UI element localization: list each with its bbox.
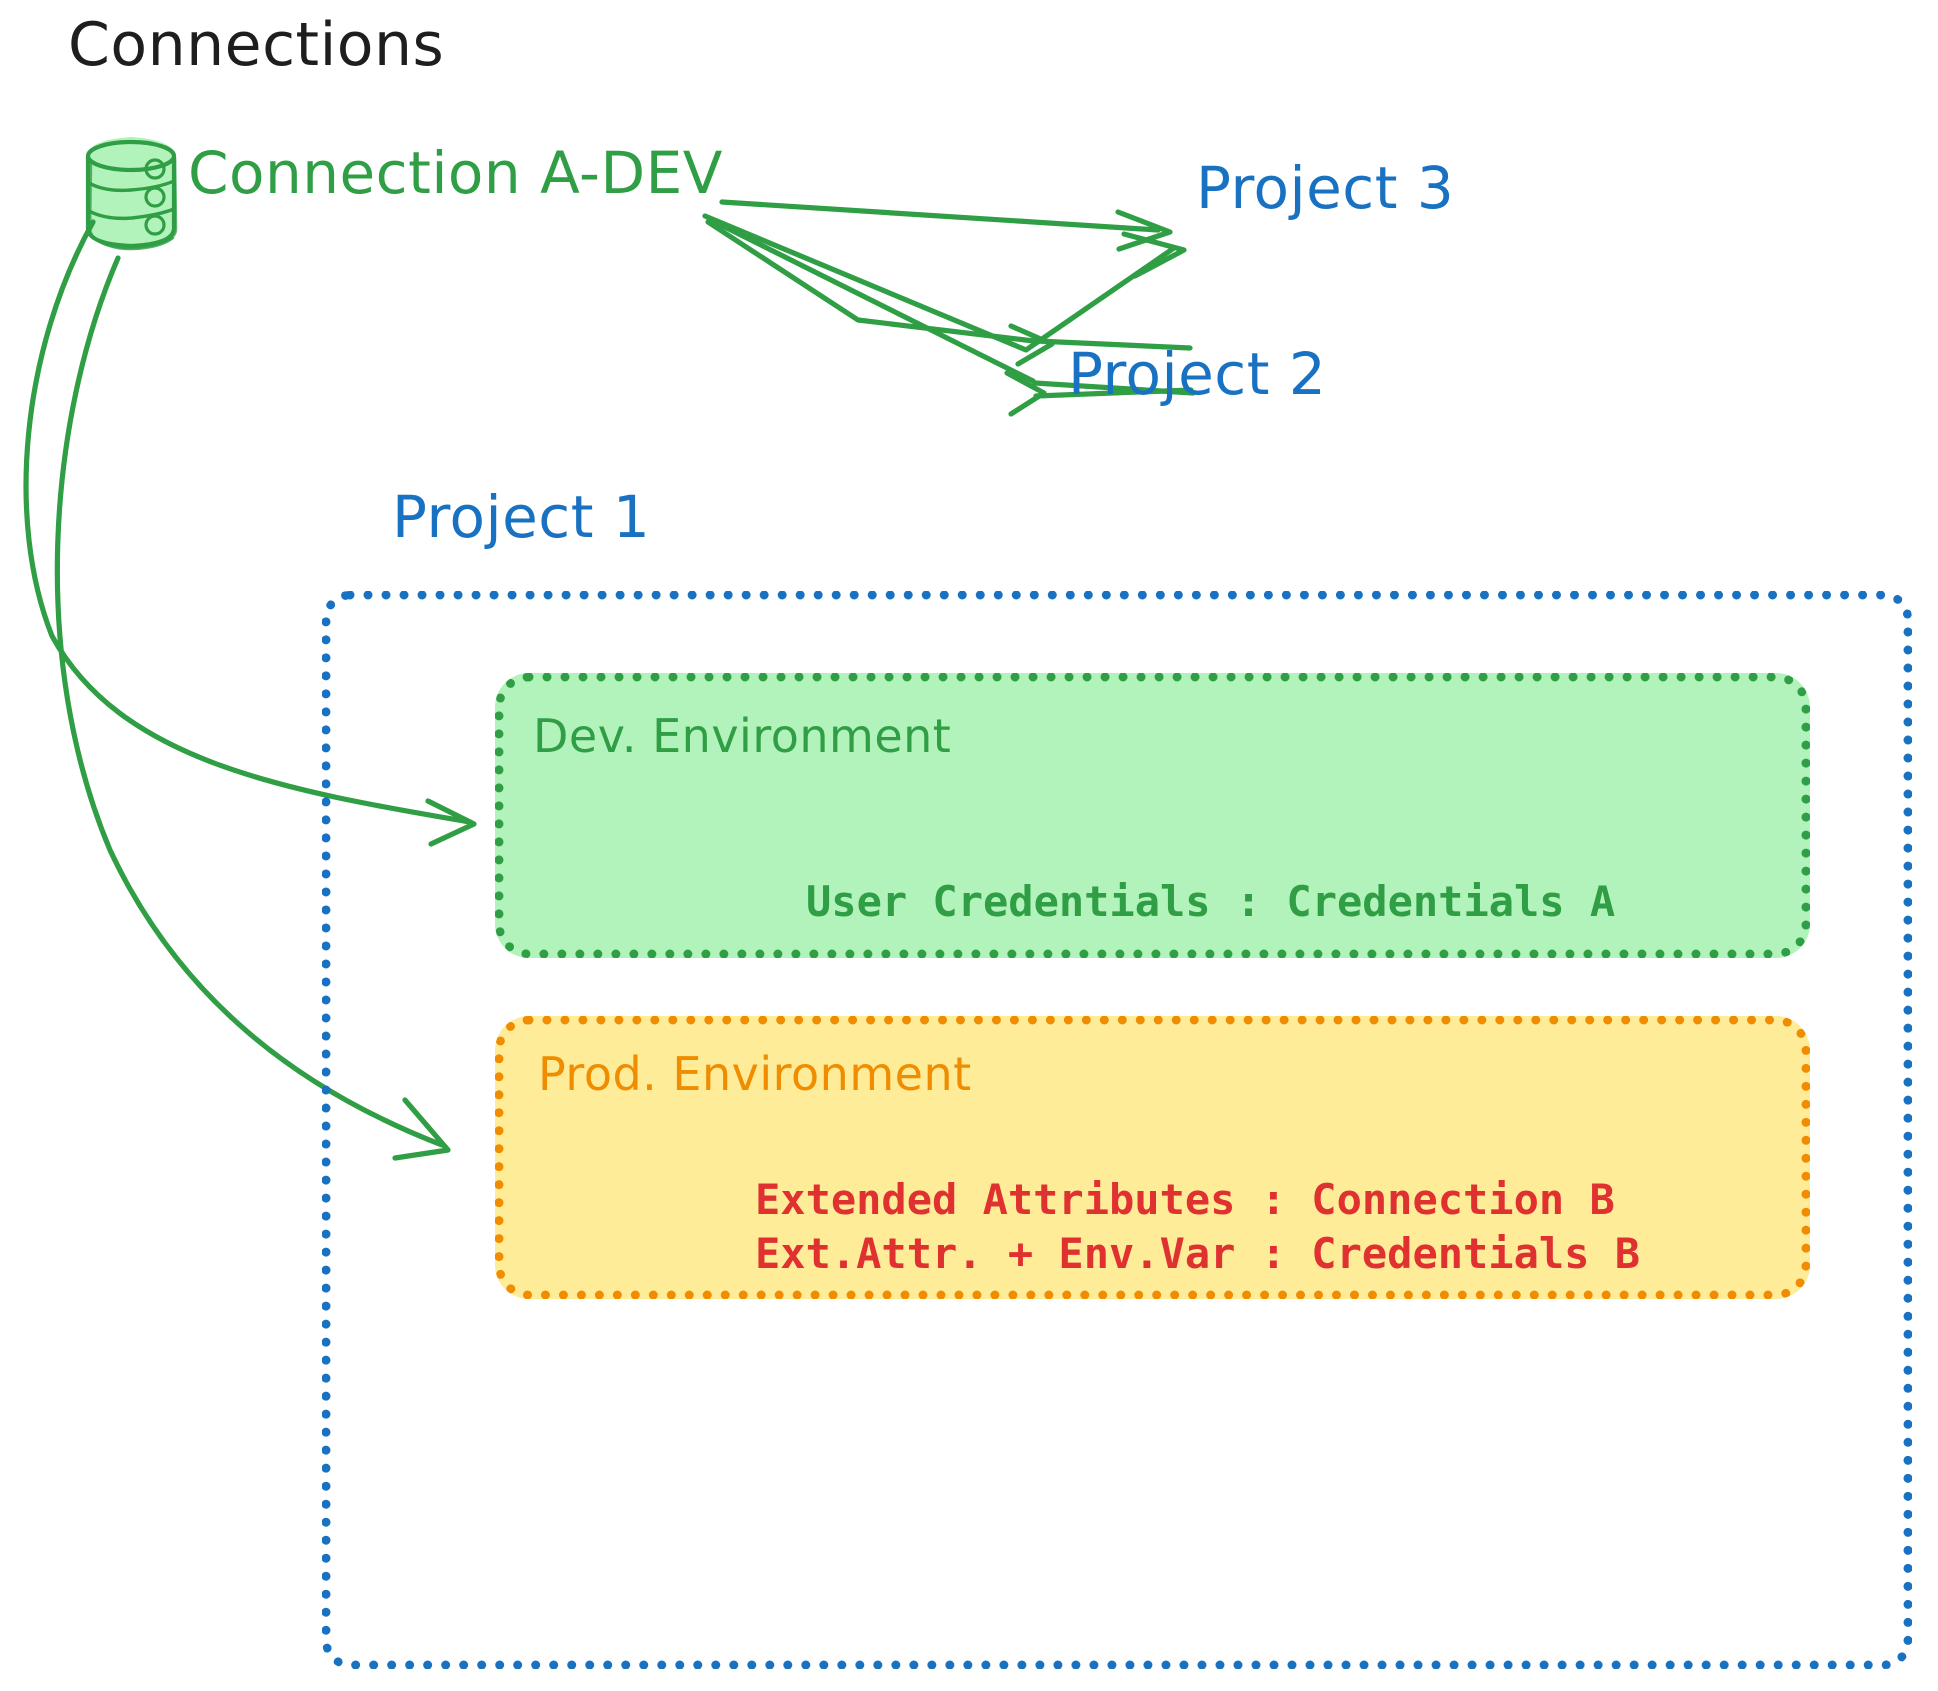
dev-environment-title: Dev. Environment — [533, 712, 951, 760]
connection-label[interactable]: Connection A-DEV — [188, 143, 723, 204]
diagram-canvas: Connections Connection A-DEV Project 3 P… — [0, 0, 1938, 1691]
project-1-label[interactable]: Project 1 — [392, 487, 650, 548]
prod-environment-attribute-0: Extended Attributes : Connection B — [755, 1178, 1615, 1222]
database-cylinder-icon — [88, 137, 176, 249]
prod-environment-title: Prod. Environment — [538, 1050, 972, 1098]
arrow-to-project-3 — [705, 202, 1184, 350]
project-2-label[interactable]: Project 2 — [1068, 344, 1326, 405]
prod-environment-attribute-1: Ext.Attr. + Env.Var : Credentials B — [755, 1232, 1640, 1276]
dev-environment-attribute-0: User Credentials : Credentials A — [806, 880, 1615, 924]
project-3-label[interactable]: Project 3 — [1196, 158, 1454, 219]
page-title: Connections — [68, 14, 444, 77]
